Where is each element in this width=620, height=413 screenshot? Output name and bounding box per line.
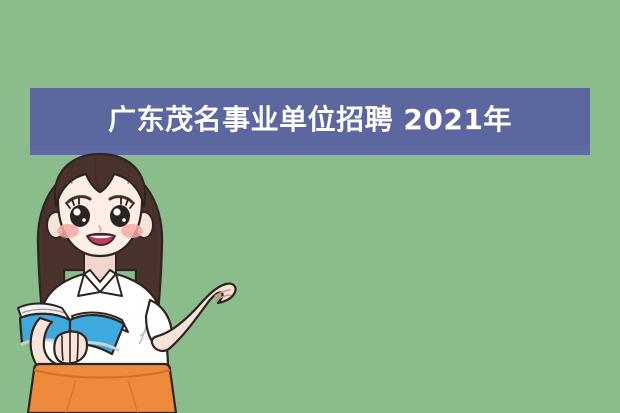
poster-canvas: 广东茂名事业单位招聘 2021年 bbox=[0, 0, 620, 413]
illustration-girl-with-book bbox=[0, 150, 300, 413]
title-banner: 广东茂名事业单位招聘 2021年 bbox=[30, 88, 590, 155]
skirt-icon bbox=[28, 364, 176, 413]
page-title: 广东茂名事业单位招聘 2021年 bbox=[108, 106, 512, 134]
